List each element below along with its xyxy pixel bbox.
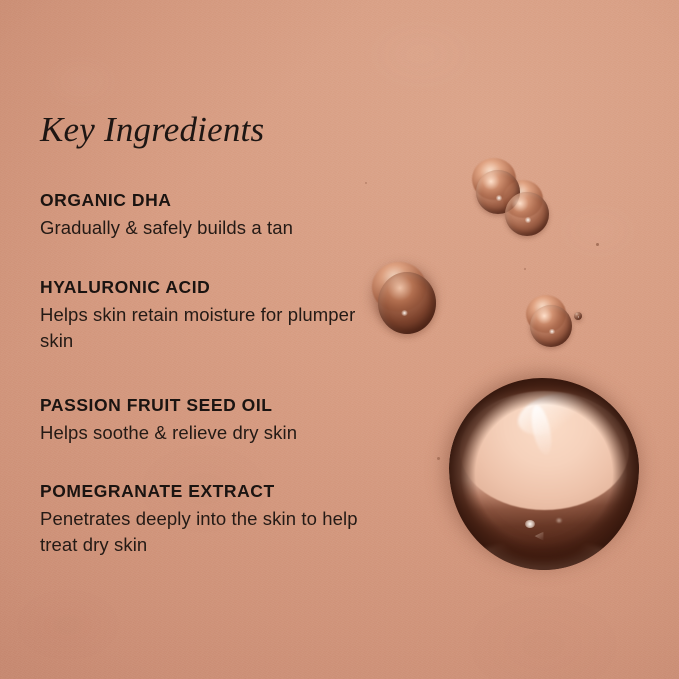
ingredient-item-pomegranate-extract: POMEGRANATE EXTRACT Penetrates deeply in… [40, 481, 440, 559]
ingredients-text-block: Key Ingredients ORGANIC DHA Gradually & … [40, 0, 460, 679]
ingredient-name: POMEGRANATE EXTRACT [40, 481, 440, 502]
product-ingredients-panel: Key Ingredients ORGANIC DHA Gradually & … [0, 0, 679, 679]
ingredient-description: Helps skin retain moisture for plumper s… [40, 302, 370, 355]
ingredient-item-organic-dha: ORGANIC DHA Gradually & safely builds a … [40, 190, 440, 241]
ingredient-description: Gradually & safely builds a tan [40, 215, 370, 241]
ingredient-item-hyaluronic-acid: HYALURONIC ACID Helps skin retain moistu… [40, 277, 440, 355]
ingredient-name: HYALURONIC ACID [40, 277, 440, 298]
ingredient-description: Penetrates deeply into the skin to help … [40, 506, 370, 559]
page-title: Key Ingredients [40, 112, 264, 147]
ingredient-description: Helps soothe & relieve dry skin [40, 420, 370, 446]
ingredient-name: ORGANIC DHA [40, 190, 440, 211]
ingredient-item-passion-fruit-seed-oil: PASSION FRUIT SEED OIL Helps soothe & re… [40, 395, 440, 446]
ingredient-name: PASSION FRUIT SEED OIL [40, 395, 440, 416]
